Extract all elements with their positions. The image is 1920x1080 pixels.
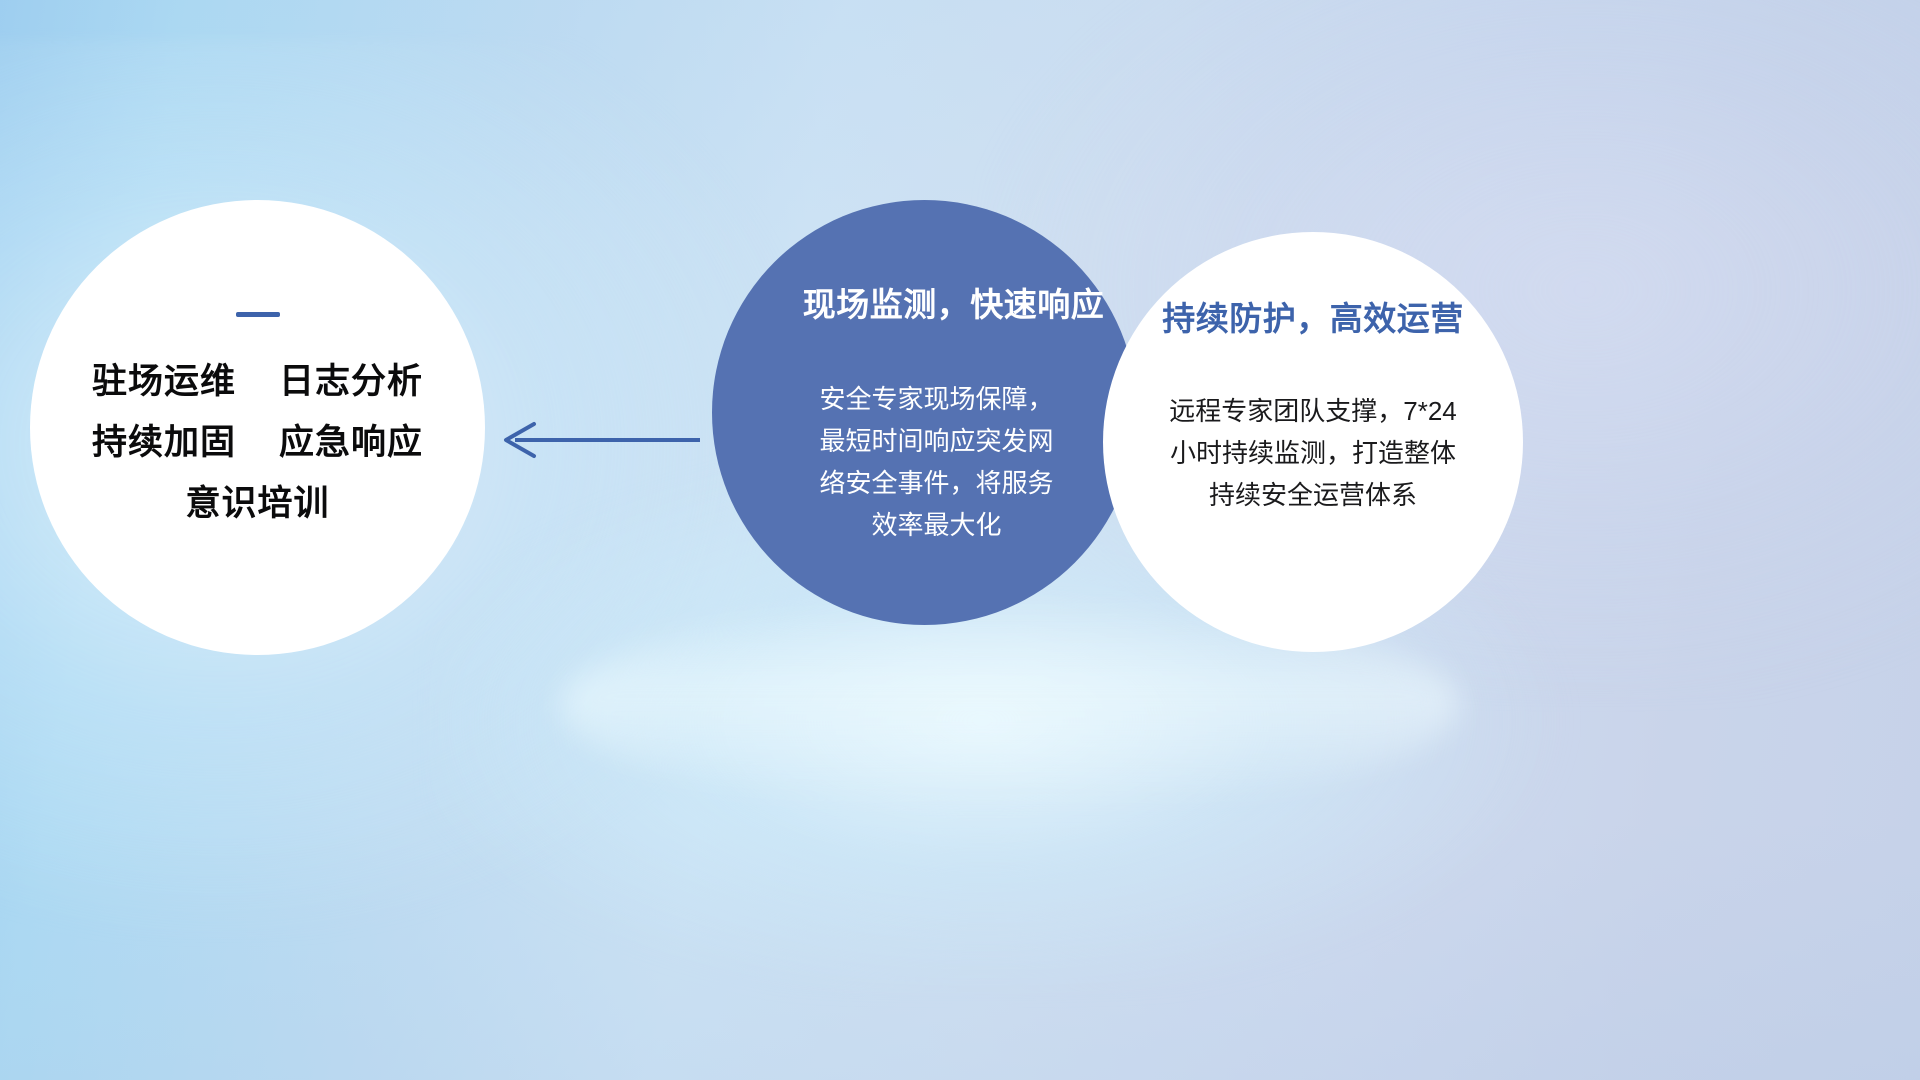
mid-body-line-3: 络安全事件，将服务: [782, 462, 1092, 504]
right-circle-body: 远程专家团队支撑，7*24 小时持续监测，打造整体 持续安全运营体系: [1129, 390, 1497, 516]
right-operations-circle: 持续防护，高效运营 远程专家团队支撑，7*24 小时持续监测，打造整体 持续安全…: [1103, 232, 1523, 652]
left-capability-line-3: 意识培训: [185, 485, 329, 523]
mid-circle-body: 安全专家现场保障， 最短时间响应突发网 络安全事件，将服务 效率最大化: [782, 378, 1092, 546]
left-capability-list: 驻场运维 日志分析 持续加固 应急响应 意识培训: [92, 363, 423, 522]
left-capability-line-2: 持续加固 应急响应: [92, 424, 423, 462]
arrow-left-icon: [506, 424, 700, 456]
right-body-line-3: 持续安全运营体系: [1129, 474, 1497, 516]
right-body-line-1: 远程专家团队支撑，7*24: [1129, 390, 1497, 432]
divider-dash-icon: [236, 312, 280, 317]
diagram-canvas: 驻场运维 日志分析 持续加固 应急响应 意识培训 现场监测，快速响应 安全专家现…: [0, 0, 1920, 1080]
left-capability-line-1: 驻场运维 日志分析: [92, 363, 423, 401]
mid-body-line-2: 最短时间响应突发网: [782, 420, 1092, 462]
mid-onsite-circle: 现场监测，快速响应 安全专家现场保障， 最短时间响应突发网 络安全事件，将服务 …: [712, 200, 1137, 625]
mid-circle-title: 现场监测，快速响应: [803, 278, 1105, 326]
right-circle-title: 持续防护，高效运营: [1162, 292, 1464, 340]
mid-body-line-4: 效率最大化: [782, 504, 1092, 546]
mid-body-line-1: 安全专家现场保障，: [782, 378, 1092, 420]
left-capability-circle: 驻场运维 日志分析 持续加固 应急响应 意识培训: [30, 200, 485, 655]
right-body-line-2: 小时持续监测，打造整体: [1129, 432, 1497, 474]
